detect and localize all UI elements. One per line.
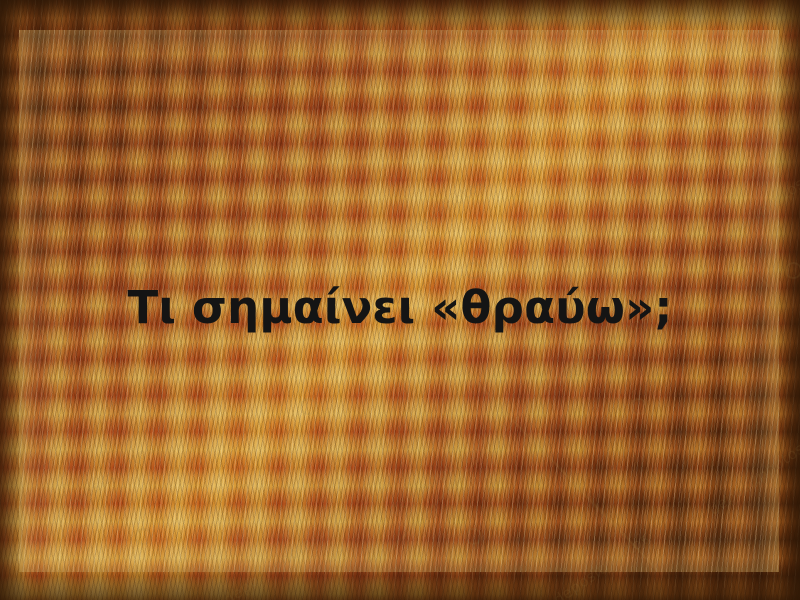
- presentation-slide: depositphotosdepositphotosdepositphotosd…: [0, 0, 800, 600]
- slide-headline: Τι σημαίνει «θραύω»;: [127, 284, 672, 331]
- headline-container: Τι σημαίνει «θραύω»;: [0, 284, 800, 331]
